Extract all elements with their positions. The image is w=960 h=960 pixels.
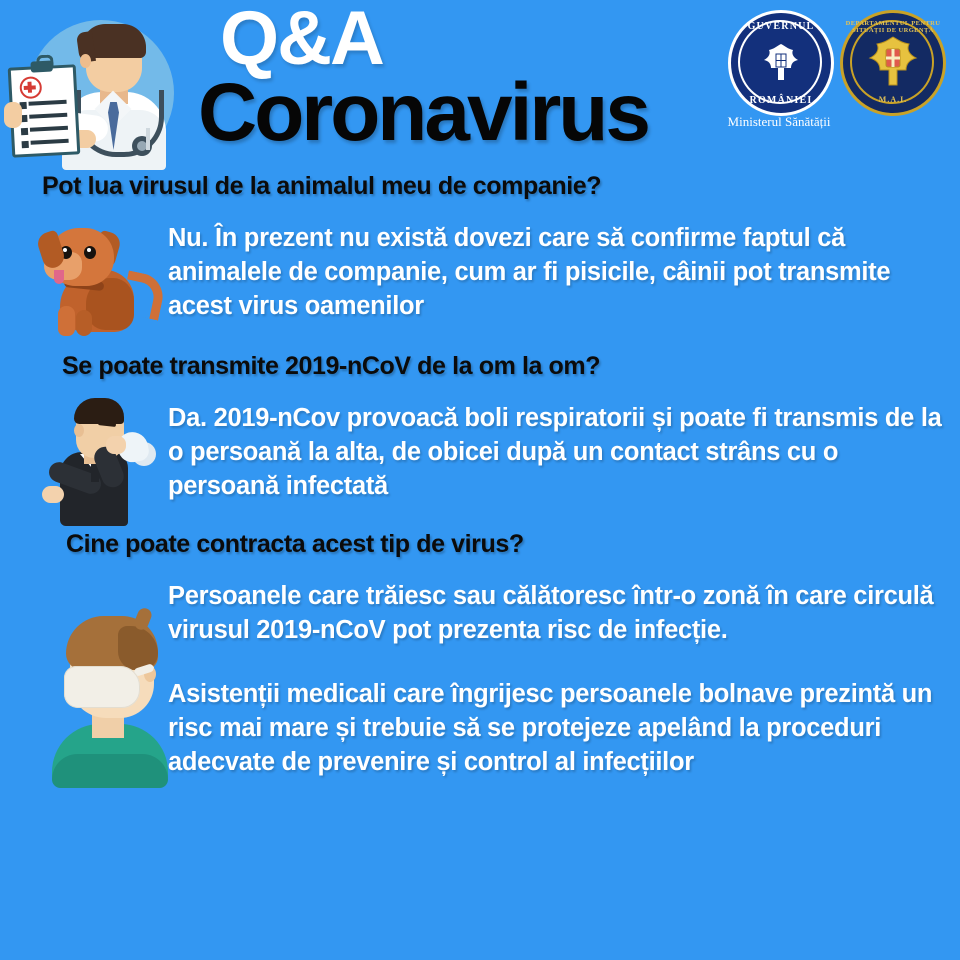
doctor-with-clipboard-icon <box>4 6 176 168</box>
dsu-logo-arc-top: DEPARTAMENTUL PENTRU SITUAȚII DE URGENȚĂ <box>843 20 943 34</box>
clipboard-bullet <box>21 128 28 135</box>
clipboard-line <box>31 139 69 145</box>
doctor-holding-hand <box>4 102 22 128</box>
dsu-logo-arc-bottom: M.A.I. <box>843 95 943 104</box>
qa-block-1: Pot lua virusul de la animalul meu de co… <box>0 172 960 201</box>
clipboard-line <box>29 113 67 119</box>
gov-logo-arc-bottom: ROMÂNIEI <box>731 95 831 106</box>
poster-header: Q&A Coronavirus GUVERNUL ROMÂNIEI DEPART… <box>0 0 960 170</box>
poster-title: Q&A Coronavirus <box>196 4 736 152</box>
logo-group: GUVERNUL ROMÂNIEI DEPARTAMENTUL PENTRU S… <box>728 6 948 146</box>
answer-block-1: Nu. În prezent nu există dovezi care să … <box>0 222 960 324</box>
question-3: Cine poate contracta acest tip de virus? <box>66 530 960 559</box>
answer-block-3: Persoanele care trăiesc sau călătoresc î… <box>0 580 960 780</box>
answer-2-1: Da. 2019-nCov provoacă boli respiratorii… <box>168 402 950 504</box>
qa-block-3: Cine poate contracta acest tip de virus? <box>0 530 960 559</box>
title-coronavirus: Coronavirus <box>196 74 736 152</box>
doctor-pocket-pen <box>146 128 150 150</box>
doctor-ear <box>80 54 91 68</box>
answer-3-2: Asistenții medicali care îngrijesc perso… <box>168 678 950 780</box>
infographic-poster: Q&A Coronavirus GUVERNUL ROMÂNIEI DEPART… <box>0 0 960 960</box>
answer-1-1: Nu. În prezent nu există dovezi care să … <box>168 222 950 324</box>
dsu-mai-logo: DEPARTAMENTUL PENTRU SITUAȚII DE URGENȚĂ… <box>840 10 946 116</box>
medical-cross-icon <box>19 76 42 99</box>
ministerul-sanatatii-label: Ministerul Sănătății <box>720 114 838 130</box>
answer-3-1: Persoanele care trăiesc sau călătoresc î… <box>168 580 950 648</box>
clipboard-line <box>30 126 68 132</box>
guvernul-romaniei-logo: GUVERNUL ROMÂNIEI <box>728 10 834 116</box>
question-2: Se poate transmite 2019-nCoV de la om la… <box>62 352 960 381</box>
clipboard-ring <box>36 54 54 67</box>
gov-logo-arc-top: GUVERNUL <box>731 21 831 32</box>
clipboard-bullet <box>22 141 29 148</box>
question-1: Pot lua virusul de la animalul meu de co… <box>42 172 960 201</box>
answer-block-2: Da. 2019-nCov provoacă boli respiratorii… <box>0 402 960 504</box>
clipboard-line <box>28 100 66 106</box>
eagle-crest-icon <box>758 40 804 86</box>
qa-block-2: Se poate transmite 2019-nCoV de la om la… <box>0 352 960 381</box>
title-qa: Q&A <box>196 4 736 74</box>
golden-eagle-icon <box>867 33 919 89</box>
